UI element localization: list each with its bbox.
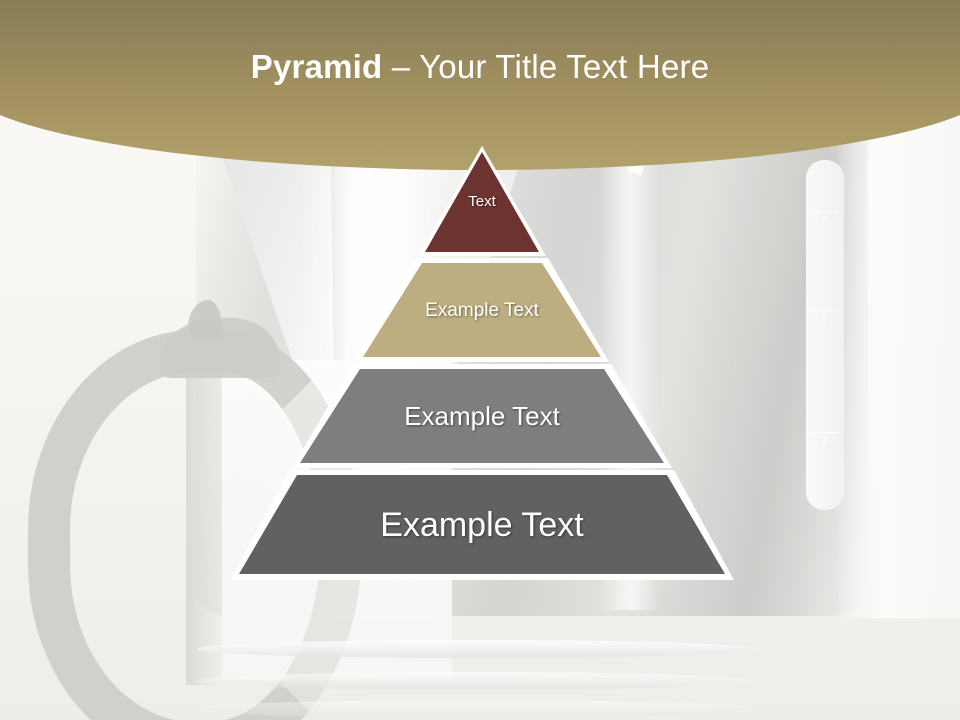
page-title-separator: – [382,48,419,85]
gauge-mark-4: 4 [810,310,838,322]
pyramid-level-4[interactable]: Example Text [230,470,734,580]
kettle-highlight-right [838,118,960,618]
pyramid-level-3-label: Example Text [404,403,560,429]
pyramid-level-2-label: Example Text [425,301,539,320]
pyramid-level-1-label: Text [468,194,496,209]
carafe-base-ring-1 [196,640,756,658]
presentation-slide: 6 4 2 Pyramid – Your Title Text Here Tex… [0,0,960,720]
carafe-base-ring-3 [196,700,756,718]
pyramid-level-2[interactable]: Example Text [230,258,734,362]
page-title-rest: Your Title Text Here [419,48,709,85]
pyramid-diagram: Text Example Text Example Text Example T… [230,146,734,580]
page-title-bold: Pyramid [251,48,383,85]
pyramid-level-1[interactable]: Text [230,146,734,256]
page-title: Pyramid – Your Title Text Here [0,48,960,86]
gauge-mark-2: 2 [810,432,838,444]
carafe-base-ring-2 [196,672,756,690]
pyramid-level-3[interactable]: Example Text [230,364,734,468]
gauge-mark-6: 6 [810,212,838,224]
pyramid-level-4-label: Example Text [380,508,583,542]
